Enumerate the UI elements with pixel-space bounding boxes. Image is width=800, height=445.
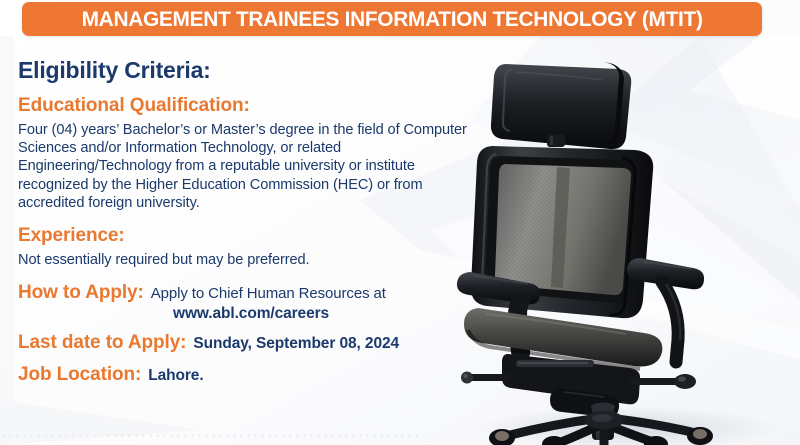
last-date-to-apply-value: Sunday, September 08, 2024 [193, 335, 399, 353]
educational-qualification-label: Educational Qualification: [18, 95, 518, 117]
job-details-content: Eligibility Criteria: Educational Qualif… [18, 58, 518, 386]
last-date-to-apply-label: Last date to Apply: [18, 332, 186, 354]
experience-text: Not essentially required but may be pref… [18, 251, 518, 269]
bottom-dotted-divider [0, 434, 420, 437]
job-title-banner: MANAGEMENT TRAINEES INFORMATION TECHNOLO… [22, 2, 762, 36]
job-title-text: MANAGEMENT TRAINEES INFORMATION TECHNOLO… [81, 7, 702, 32]
educational-qualification-text: Four (04) years’ Bachelor’s or Master’s … [18, 121, 488, 213]
experience-label: Experience: [18, 225, 518, 247]
eligibility-criteria-heading: Eligibility Criteria: [18, 58, 518, 84]
job-location-label: Job Location: [18, 364, 141, 386]
job-location-value: Lahore. [148, 367, 203, 385]
how-to-apply-text: Apply to Chief Human Resources at [151, 285, 386, 302]
job-location-row: Job Location: Lahore. [18, 364, 518, 386]
careers-website-link[interactable]: www.abl.com/careers [173, 305, 518, 323]
how-to-apply-block: How to Apply: Apply to Chief Human Resou… [18, 282, 518, 323]
how-to-apply-label: How to Apply: [18, 282, 144, 304]
last-date-to-apply-row: Last date to Apply: Sunday, September 08… [18, 332, 518, 354]
how-to-apply-row: How to Apply: Apply to Chief Human Resou… [18, 282, 518, 304]
